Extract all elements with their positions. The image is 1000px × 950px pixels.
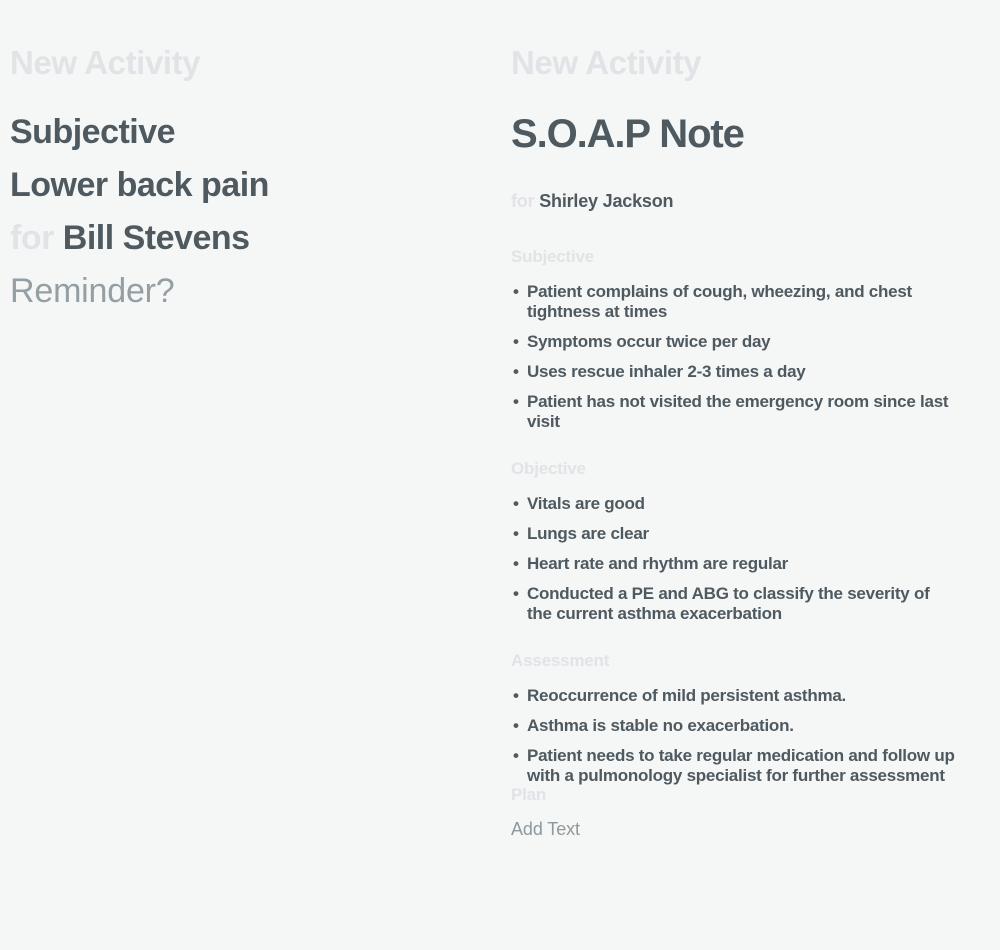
section-assessment: Assessment•Reoccurrence of mild persiste…	[511, 652, 971, 786]
bullet-item-text: Vitals are good	[527, 494, 645, 513]
bullet-item-text: Lungs are clear	[527, 524, 649, 543]
bullet-dot-icon: •	[513, 332, 519, 352]
bullet-item[interactable]: •Patient needs to take regular medicatio…	[511, 746, 955, 786]
left-new-activity-eyebrow: New Activity	[10, 46, 470, 79]
right-new-activity-eyebrow: New Activity	[511, 46, 971, 79]
bullet-list-assessment: •Reoccurrence of mild persistent asthma.…	[511, 686, 971, 786]
bullet-item-text: Asthma is stable no exacerbation.	[527, 716, 794, 735]
bullet-dot-icon: •	[513, 746, 519, 766]
bullet-list-subjective: •Patient complains of cough, wheezing, a…	[511, 282, 971, 432]
soap-note-title[interactable]: S.O.A.P Note	[511, 114, 971, 154]
bullet-item[interactable]: •Patient has not visited the emergency r…	[511, 392, 955, 432]
bullet-dot-icon: •	[513, 686, 519, 706]
bullet-item[interactable]: •Vitals are good	[511, 494, 955, 514]
left-patient-name[interactable]: Bill Stevens	[63, 219, 250, 257]
section-plan: Plan Add Text	[511, 786, 971, 838]
section-subjective: Subjective•Patient complains of cough, w…	[511, 248, 971, 432]
right-patient-line: for Shirley Jackson	[511, 192, 971, 210]
left-for-label: for	[10, 219, 54, 257]
soap-note-screen: New Activity Subjective Lower back pain …	[0, 0, 1000, 950]
bullet-list-objective: •Vitals are good•Lungs are clear•Heart r…	[511, 494, 971, 624]
bullet-dot-icon: •	[513, 524, 519, 544]
bullet-dot-icon: •	[513, 554, 519, 574]
section-label-assessment: Assessment	[511, 652, 971, 669]
plan-add-text-placeholder[interactable]: Add Text	[511, 820, 971, 838]
soap-sections-container: Subjective•Patient complains of cough, w…	[511, 248, 971, 786]
bullet-item[interactable]: •Patient complains of cough, wheezing, a…	[511, 282, 955, 322]
section-label-subjective: Subjective	[511, 248, 971, 265]
left-reminder-prompt[interactable]: Reminder?	[10, 274, 470, 308]
bullet-dot-icon: •	[513, 392, 519, 412]
bullet-item[interactable]: •Lungs are clear	[511, 524, 955, 544]
bullet-item-text: Heart rate and rhythm are regular	[527, 554, 788, 573]
bullet-item-text: Symptoms occur twice per day	[527, 332, 770, 351]
section-label-objective: Objective	[511, 460, 971, 477]
bullet-item-text: Conducted a PE and ABG to classify the s…	[527, 584, 930, 623]
bullet-dot-icon: •	[513, 494, 519, 514]
bullet-item-text: Patient needs to take regular medication…	[527, 746, 955, 785]
bullet-item[interactable]: •Heart rate and rhythm are regular	[511, 554, 955, 574]
bullet-dot-icon: •	[513, 362, 519, 382]
bullet-item[interactable]: •Asthma is stable no exacerbation.	[511, 716, 955, 736]
bullet-item-text: Uses rescue inhaler 2-3 times a day	[527, 362, 806, 381]
bullet-dot-icon: •	[513, 584, 519, 604]
section-label-plan: Plan	[511, 786, 971, 803]
left-activity-panel: New Activity Subjective Lower back pain …	[10, 46, 470, 308]
right-for-label: for	[511, 191, 534, 211]
bullet-item-text: Patient complains of cough, wheezing, an…	[527, 282, 912, 321]
left-complaint-text[interactable]: Lower back pain	[10, 168, 470, 202]
bullet-dot-icon: •	[513, 716, 519, 736]
bullet-item[interactable]: •Uses rescue inhaler 2-3 times a day	[511, 362, 955, 382]
left-activity-type-title[interactable]: Subjective	[10, 115, 470, 149]
bullet-dot-icon: •	[513, 282, 519, 302]
right-patient-name[interactable]: Shirley Jackson	[539, 191, 673, 211]
bullet-item[interactable]: •Conducted a PE and ABG to classify the …	[511, 584, 955, 624]
bullet-item[interactable]: •Reoccurrence of mild persistent asthma.	[511, 686, 955, 706]
bullet-item-text: Patient has not visited the emergency ro…	[527, 392, 948, 431]
bullet-item-text: Reoccurrence of mild persistent asthma.	[527, 686, 846, 705]
section-objective: Objective•Vitals are good•Lungs are clea…	[511, 460, 971, 624]
left-patient-line: for Bill Stevens	[10, 221, 470, 255]
bullet-item[interactable]: •Symptoms occur twice per day	[511, 332, 955, 352]
right-soap-panel: New Activity S.O.A.P Note for Shirley Ja…	[511, 46, 971, 838]
